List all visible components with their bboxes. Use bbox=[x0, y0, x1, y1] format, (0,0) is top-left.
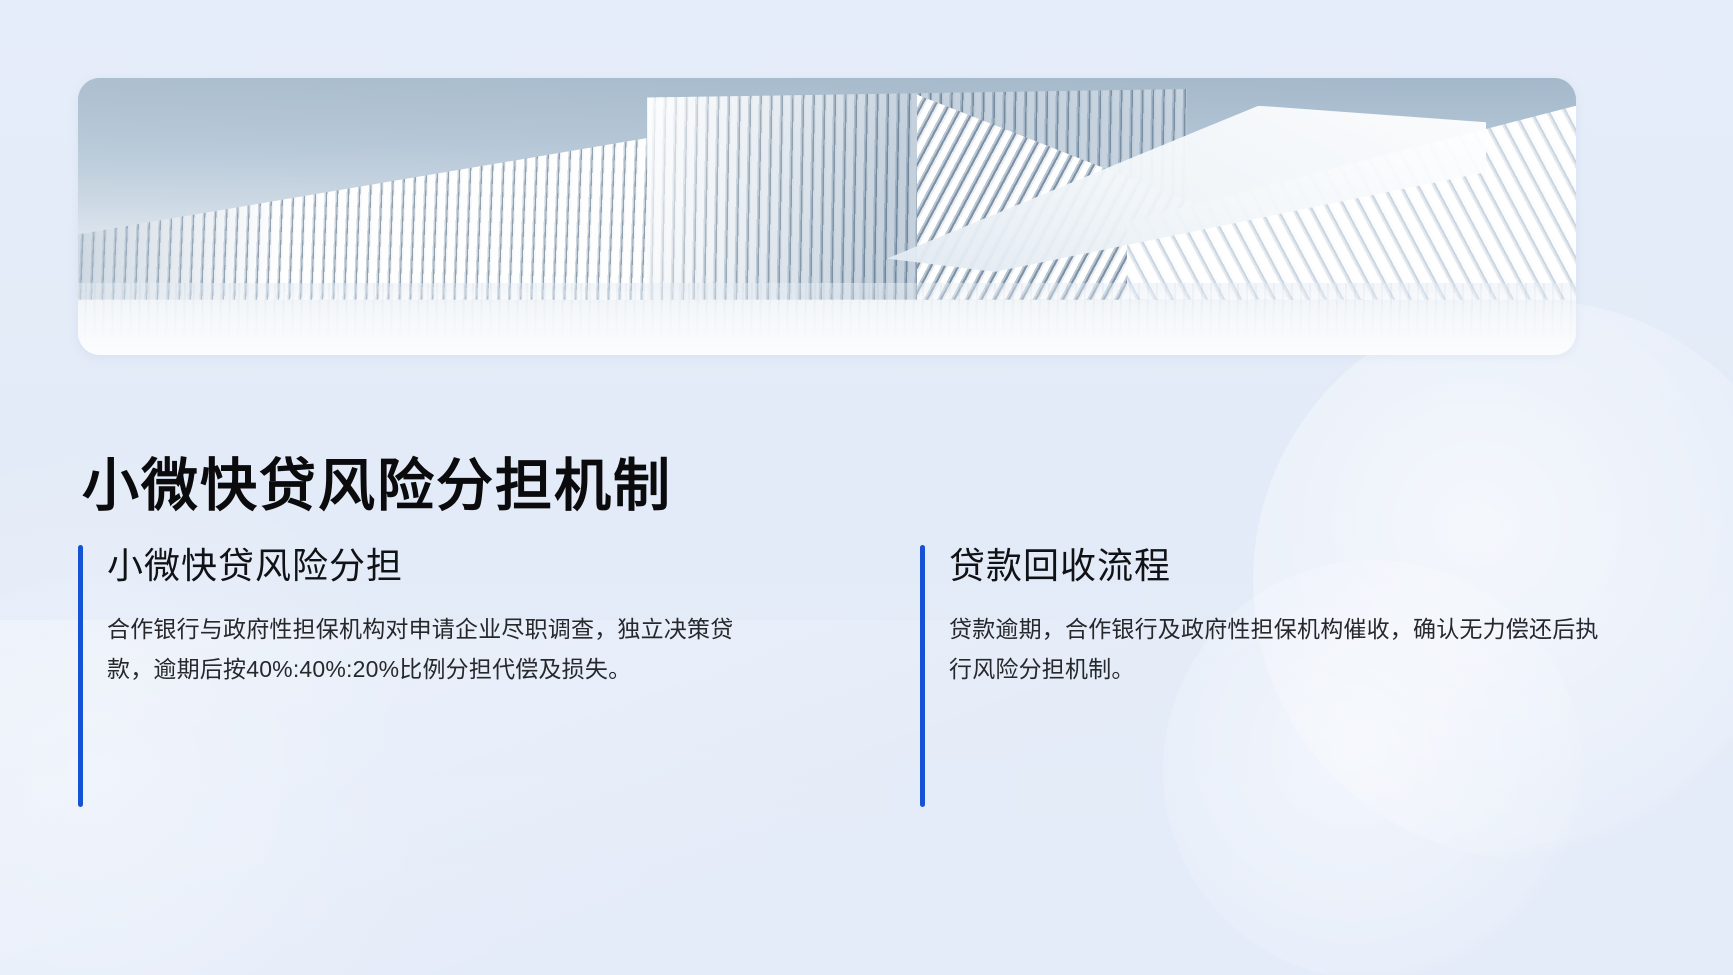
column-title: 小微快贷风险分担 bbox=[107, 543, 854, 588]
page-title: 小微快贷风险分担机制 bbox=[82, 453, 672, 519]
content-columns: 小微快贷风险分担 合作银行与政府性担保机构对申请企业尽职调查，独立决策贷款，逾期… bbox=[78, 543, 1598, 805]
column-body-text: 贷款逾期，合作银行及政府性担保机构催收，确认无力偿还后执行风险分担机制。 bbox=[949, 610, 1609, 689]
hero-floor-reflection bbox=[78, 283, 1576, 355]
accent-bar bbox=[920, 545, 925, 807]
hero-banner-image bbox=[78, 78, 1576, 355]
column-body-text: 合作银行与政府性担保机构对申请企业尽职调查，独立决策贷款，逾期后按40%:40%… bbox=[107, 610, 767, 689]
column-title: 贷款回收流程 bbox=[949, 543, 1696, 588]
content-column-loan-recovery: 贷款回收流程 贷款逾期，合作银行及政府性担保机构催收，确认无力偿还后执行风险分担… bbox=[920, 543, 1696, 805]
accent-bar bbox=[78, 545, 83, 807]
content-column-risk-sharing: 小微快贷风险分担 合作银行与政府性担保机构对申请企业尽职调查，独立决策贷款，逾期… bbox=[78, 543, 854, 805]
